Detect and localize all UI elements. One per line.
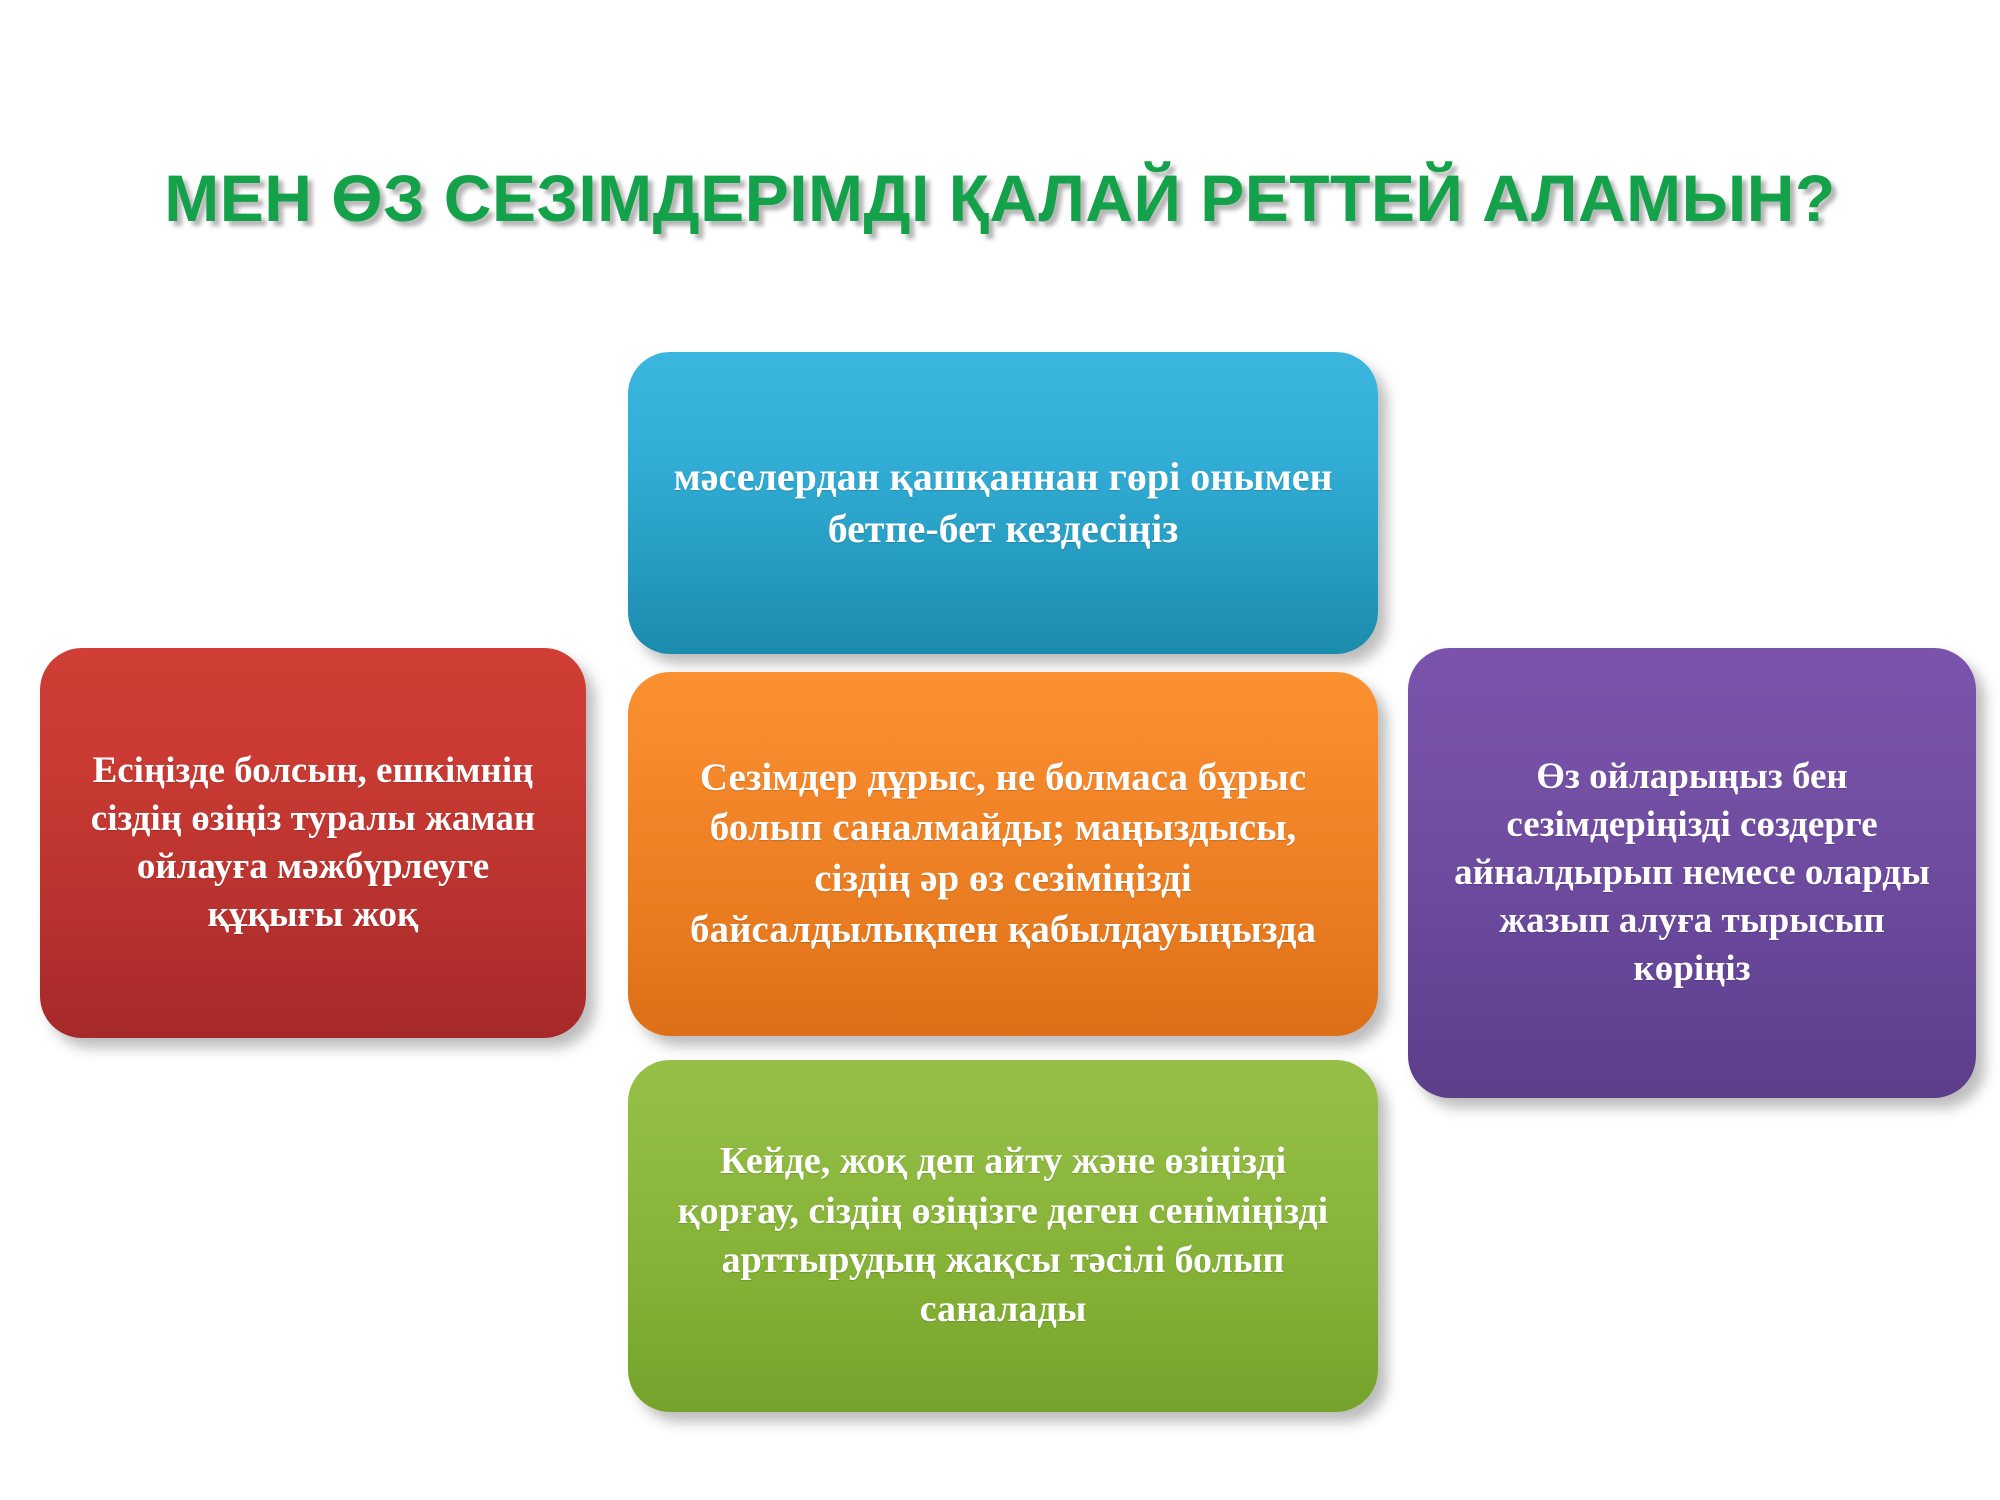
info-card-blue-text: мәселердан қашқаннан гөрі онымен бетпе-б… bbox=[628, 451, 1378, 555]
info-card-blue[interactable]: мәселердан қашқаннан гөрі онымен бетпе-б… bbox=[628, 352, 1378, 654]
info-card-green-text: Кейде, жоқ деп айту және өзіңізді қорғау… bbox=[628, 1137, 1378, 1335]
info-card-purple-text: Өз ойларыңыз бен сезімдеріңізді сөздерге… bbox=[1408, 753, 1976, 993]
info-card-orange-text: Сезімдер дұрыс, не болмаса бұрыс болып с… bbox=[628, 753, 1378, 956]
info-card-red-text: Есіңізде болсын, ешкімнің сіздің өзіңіз … bbox=[40, 747, 586, 939]
info-card-orange[interactable]: Сезімдер дұрыс, не болмаса бұрыс болып с… bbox=[628, 672, 1378, 1036]
page-title: МЕН ӨЗ СЕЗІМДЕРІМДІ ҚАЛАЙ РЕТТЕЙ АЛАМЫН? bbox=[0, 162, 2000, 235]
info-card-red[interactable]: Есіңізде болсын, ешкімнің сіздің өзіңіз … bbox=[40, 648, 586, 1038]
slide-canvas: МЕН ӨЗ СЕЗІМДЕРІМДІ ҚАЛАЙ РЕТТЕЙ АЛАМЫН?… bbox=[0, 0, 2000, 1500]
info-card-green[interactable]: Кейде, жоқ деп айту және өзіңізді қорғау… bbox=[628, 1060, 1378, 1412]
info-card-purple[interactable]: Өз ойларыңыз бен сезімдеріңізді сөздерге… bbox=[1408, 648, 1976, 1098]
